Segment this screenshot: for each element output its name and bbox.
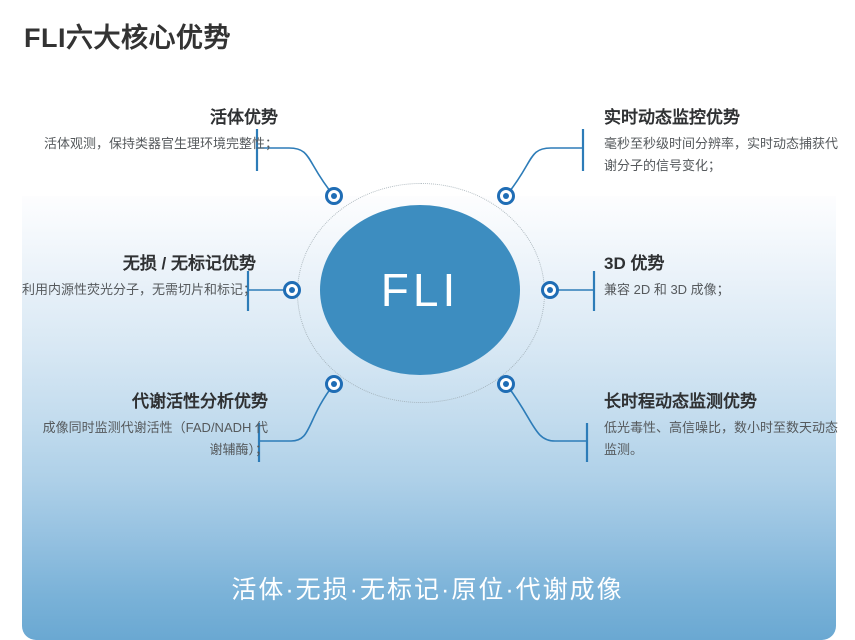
center-logo-text: FLI [320,205,520,375]
node-dot-long-term[interactable] [497,375,515,393]
advantage-desc-label-free: 利用内源性荧光分子，无需切片和标记； [20,279,256,301]
advantage-title-live: 活体优势 [42,106,278,130]
advantage-title-metabolic: 代谢活性分析优势 [32,390,268,414]
advantage-desc-long-term: 低光毒性、高信噪比，数小时至数天动态监测。 [604,417,840,461]
footer-tagline: 活体·无损·无标记·原位·代谢成像 [0,570,855,606]
connector-top-left [257,148,334,196]
advantage-desc-live: 活体观测，保持类器官生理环境完整性； [42,133,278,155]
advantage-title-label-free: 无损 / 无标记优势 [20,252,256,276]
advantage-item-live: 活体优势 活体观测，保持类器官生理环境完整性； [42,106,278,155]
advantage-item-label-free: 无损 / 无标记优势 利用内源性荧光分子，无需切片和标记； [20,252,256,301]
advantage-item-metabolic: 代谢活性分析优势 成像同时监测代谢活性（FAD/NADH 代谢辅酶）； [32,390,268,461]
advantage-title-long-term: 长时程动态监测优势 [604,390,840,414]
advantage-item-realtime: 实时动态监控优势 毫秒至秒级时间分辨率，实时动态捕获代谢分子的信号变化； [604,106,840,177]
node-dot-live[interactable] [325,187,343,205]
node-dot-label-free[interactable] [283,281,301,299]
node-dot-realtime[interactable] [497,187,515,205]
advantage-title-three-d: 3D 优势 [604,252,840,276]
advantage-item-long-term: 长时程动态监测优势 低光毒性、高信噪比，数小时至数天动态监测。 [604,390,840,461]
advantage-title-realtime: 实时动态监控优势 [604,106,840,130]
advantage-item-three-d: 3D 优势 兼容 2D 和 3D 成像； [604,252,840,301]
page-title: FLI六大核心优势 [24,16,231,55]
node-dot-metabolic[interactable] [325,375,343,393]
infographic-canvas: FLI六大核心优势 FLI 活体优势 活体观测，保持类器官生理环境完整性； [0,0,855,640]
advantage-desc-three-d: 兼容 2D 和 3D 成像； [604,279,840,301]
advantage-desc-metabolic: 成像同时监测代谢活性（FAD/NADH 代谢辅酶）； [32,417,268,461]
node-dot-three-d[interactable] [541,281,559,299]
connector-top-right [506,148,583,196]
advantage-desc-realtime: 毫秒至秒级时间分辨率，实时动态捕获代谢分子的信号变化； [604,133,840,177]
